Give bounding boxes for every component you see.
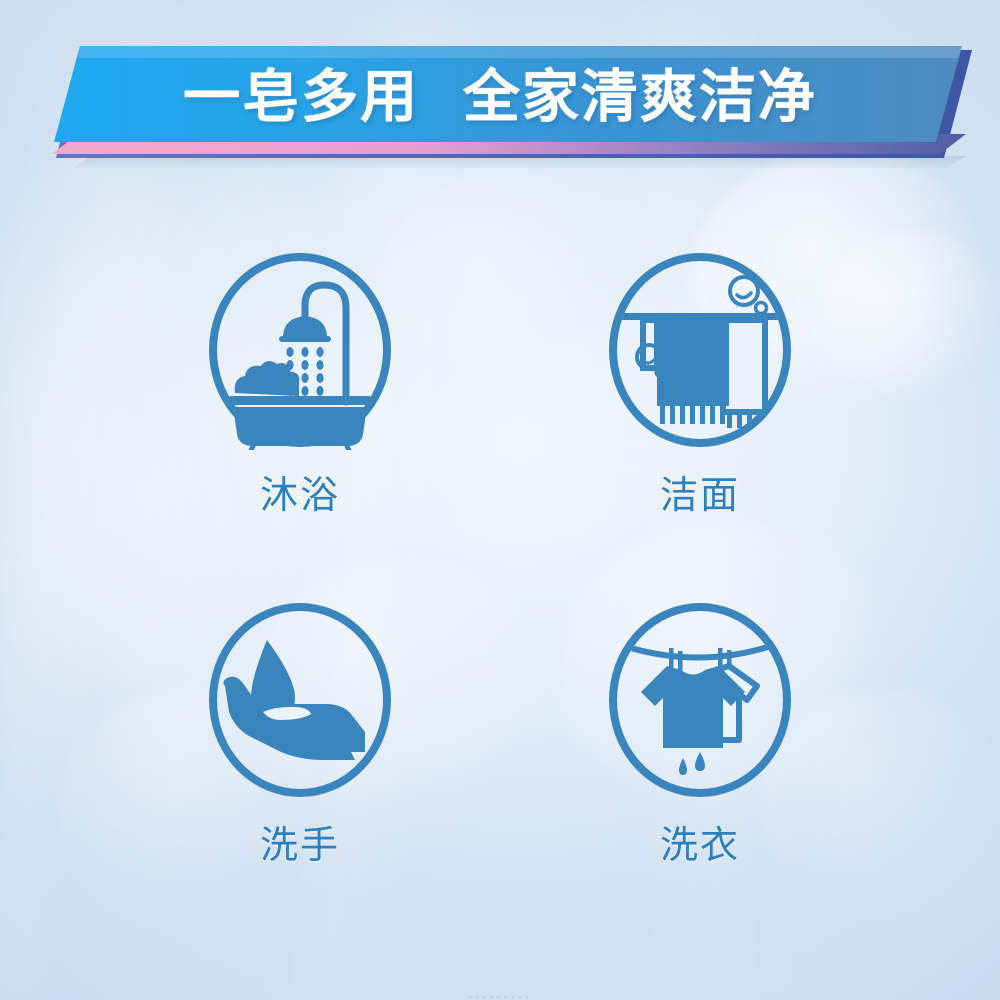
feature-label-hand-wash: 洗手 — [260, 814, 340, 869]
clothesline-shirt-icon — [605, 600, 795, 800]
headline-banner: 一皂多用 全家清爽洁净 — [0, 38, 1000, 168]
banner-plate — [54, 46, 962, 142]
watermark-text: ········· — [468, 991, 532, 1000]
promo-page: 一皂多用 全家清爽洁净 — [0, 0, 1000, 1000]
towel-rail-bubbles-icon — [605, 250, 795, 450]
feature-grid: 沐浴 — [100, 250, 900, 950]
feature-label-shower: 沐浴 — [260, 464, 340, 519]
feature-label-face-wash: 洁面 — [660, 464, 740, 519]
hand-water-drop-icon — [205, 600, 395, 800]
feature-label-laundry: 洗衣 — [660, 814, 740, 869]
feature-item-laundry[interactable]: 洗衣 — [500, 600, 900, 950]
feature-item-face-wash[interactable]: 洁面 — [500, 250, 900, 600]
feature-item-hand-wash[interactable]: 洗手 — [100, 600, 500, 950]
bathtub-shower-icon — [205, 250, 395, 450]
feature-item-shower[interactable]: 沐浴 — [100, 250, 500, 600]
bottom-watermark: ········· — [0, 984, 1000, 1000]
